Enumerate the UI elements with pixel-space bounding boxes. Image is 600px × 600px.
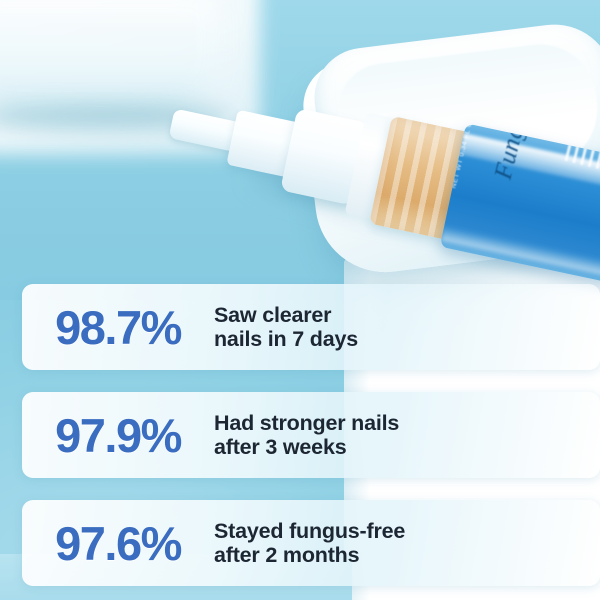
stat-description-line2: after 3 weeks [214,435,399,460]
stat-description: Stayed fungus-free after 2 months [214,519,405,568]
stat-description: Had stronger nails after 3 weeks [214,411,399,460]
stat-description-line2: nails in 7 days [214,327,358,352]
stat-card: 97.9% Had stronger nails after 3 weeks [22,392,600,478]
stat-description-line1: Had stronger nails [214,411,399,436]
stat-percent: 97.9% [22,412,214,459]
stat-description-line1: Stayed fungus-free [214,519,405,544]
stat-percent: 97.6% [22,520,214,567]
stat-description-line1: Saw clearer [214,303,358,328]
stats-list: 98.7% Saw clearer nails in 7 days 97.9% … [0,284,600,586]
marketing-image: Fungo NET WT 0.34 FL OZ 98.7% Saw cleare… [0,0,600,600]
stat-card: 97.6% Stayed fungus-free after 2 months [22,500,600,586]
stat-card: 98.7% Saw clearer nails in 7 days [22,284,600,370]
stat-description: Saw clearer nails in 7 days [214,303,358,352]
bottle-body-label: Fungo NET WT 0.34 FL OZ [440,123,600,285]
stat-description-line2: after 2 months [214,543,405,568]
stat-percent: 98.7% [22,304,214,351]
